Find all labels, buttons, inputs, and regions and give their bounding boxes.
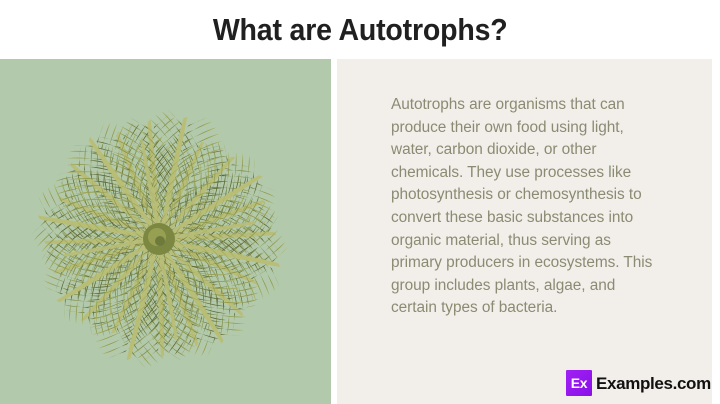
plant-illustration bbox=[28, 99, 290, 371]
examples-logo[interactable]: Ex Examples.com bbox=[566, 370, 711, 396]
image-panel bbox=[0, 59, 331, 404]
examples-logo-badge: Ex bbox=[566, 370, 592, 396]
page-title: What are Autotrophs? bbox=[213, 12, 508, 48]
examples-logo-badge-text: Ex bbox=[571, 376, 588, 390]
text-panel: Autotrophs are organisms that can produc… bbox=[337, 59, 712, 404]
title-bar: What are Autotrophs? bbox=[0, 0, 720, 59]
body-paragraph: Autotrophs are organisms that can produc… bbox=[391, 94, 663, 320]
infographic-root: What are Autotrophs? bbox=[0, 0, 720, 404]
palm-top-view-icon bbox=[28, 99, 290, 371]
examples-logo-wordmark: Examples.com bbox=[596, 375, 711, 392]
